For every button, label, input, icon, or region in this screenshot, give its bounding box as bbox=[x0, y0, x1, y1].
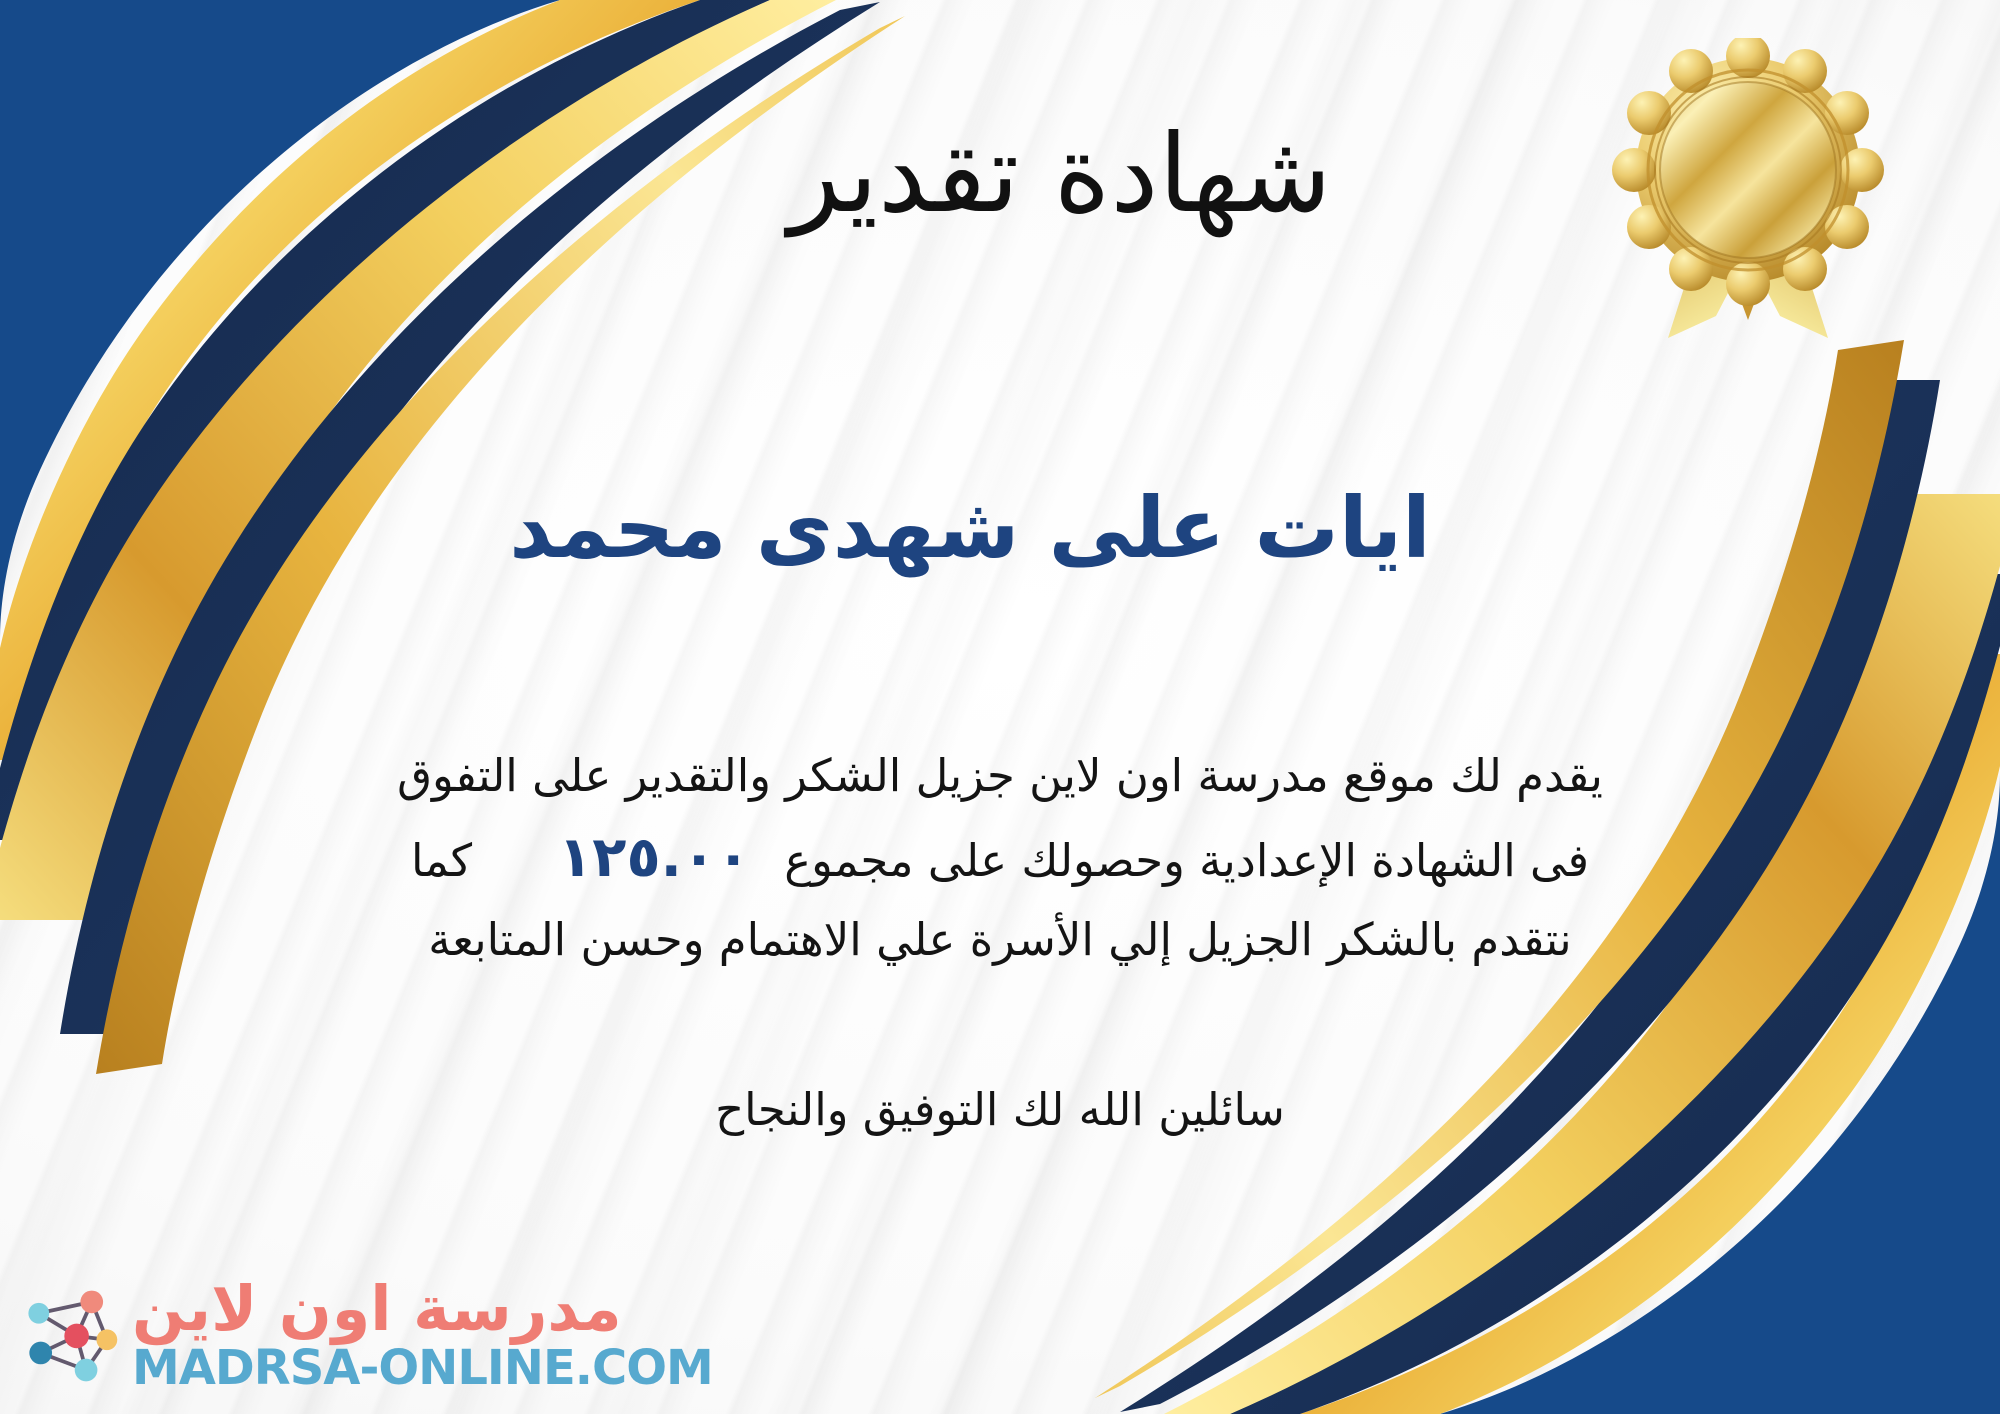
recipient-name: ايات على شهدى محمد bbox=[0, 482, 2000, 574]
logo-arabic-name: مدرسة اون لاين bbox=[132, 1278, 622, 1340]
body-line-2-prefix: فى الشهادة الإعدادية وحصولك على مجموع bbox=[784, 834, 1589, 887]
body-line-3: نتقدم بالشكر الجزيل إلي الأسرة علي الاهت… bbox=[60, 904, 1940, 977]
site-logo[interactable]: مدرسة اون لاين MADRSA-ONLINE.COM bbox=[18, 1278, 713, 1392]
certificate-canvas: شهادة تقدير ايات على شهدى محمد يقدم لك م… bbox=[0, 0, 2000, 1414]
body-line-2-suffix: كما bbox=[411, 834, 472, 887]
logo-domain: MADRSA-ONLINE.COM bbox=[132, 1344, 713, 1392]
network-nodes-icon bbox=[18, 1283, 122, 1387]
logo-text-block: مدرسة اون لاين MADRSA-ONLINE.COM bbox=[132, 1278, 713, 1392]
certificate-body: يقدم لك موقع مدرسة اون لاين جزيل الشكر و… bbox=[60, 740, 1940, 977]
body-line-1: يقدم لك موقع مدرسة اون لاين جزيل الشكر و… bbox=[60, 740, 1940, 813]
closing-line: سائلين الله لك التوفيق والنجاح bbox=[0, 1083, 2000, 1136]
body-line-2: فى الشهادة الإعدادية وحصولك على مجموع١٢٥… bbox=[60, 813, 1940, 904]
gold-award-medal-icon bbox=[1608, 38, 1888, 348]
score-value: ١٢٥.٠٠ bbox=[524, 825, 784, 890]
